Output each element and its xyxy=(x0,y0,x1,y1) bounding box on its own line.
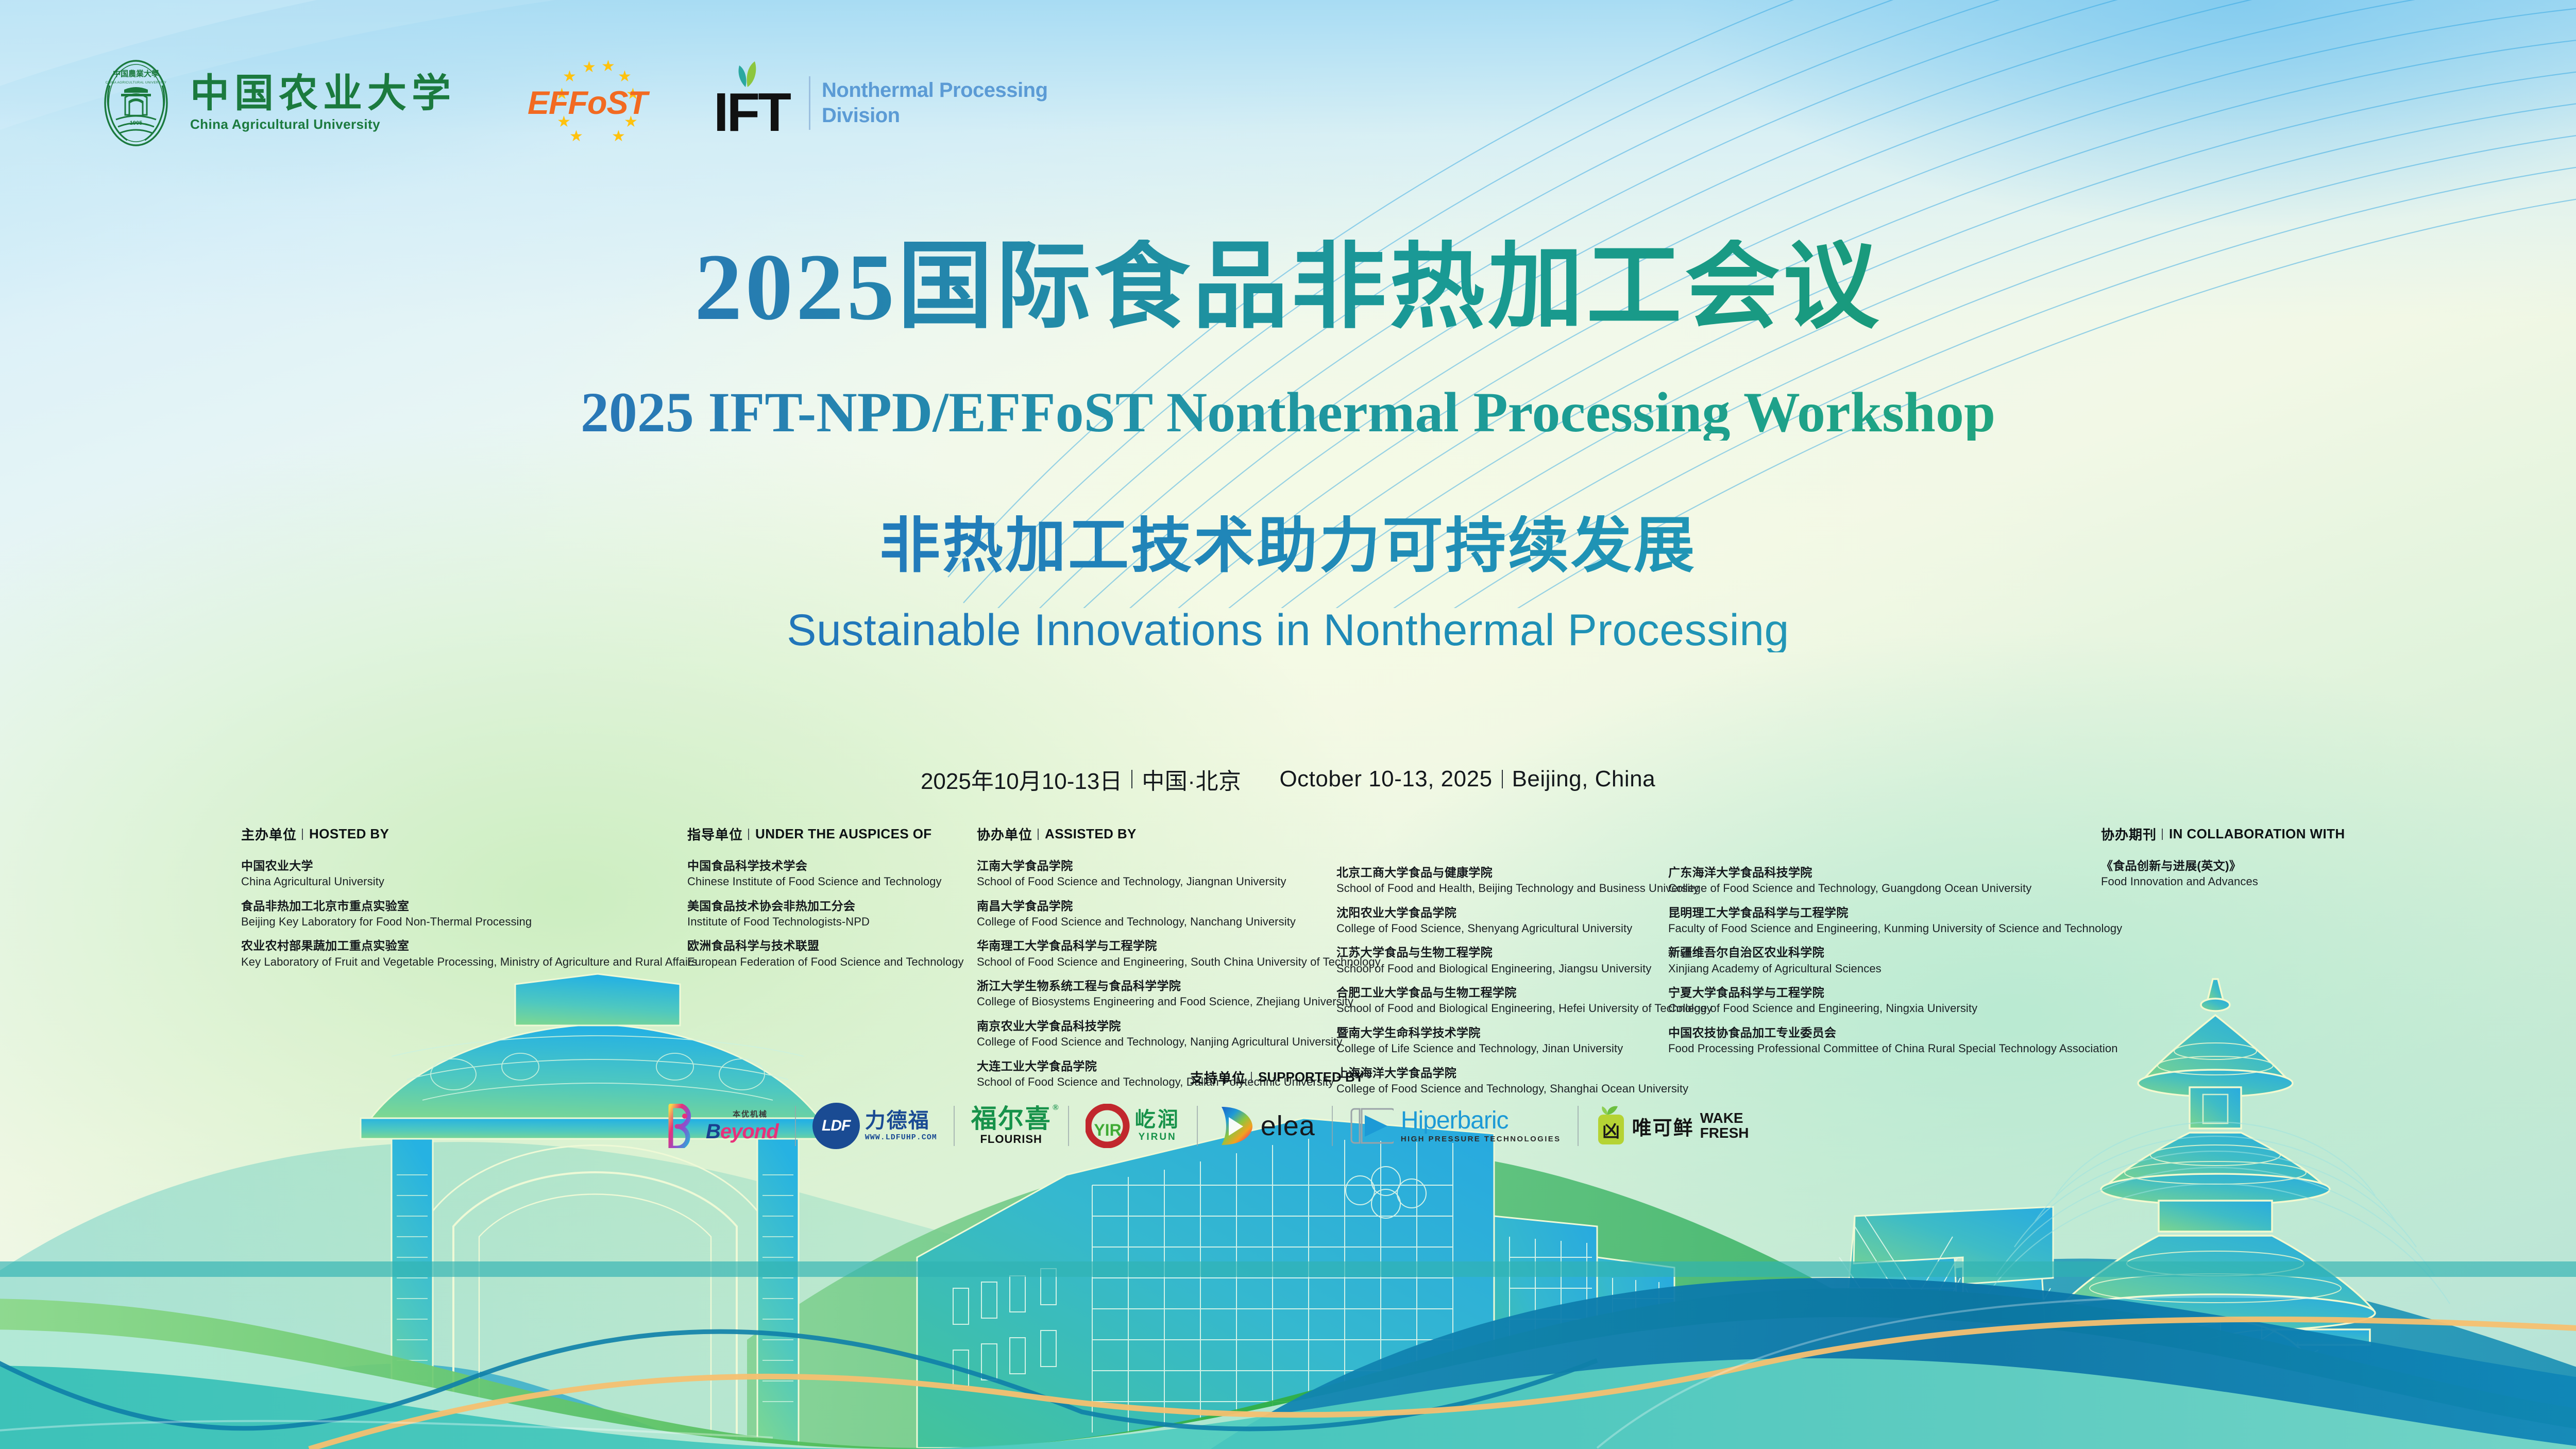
wakefresh-cn-label: 唯可鲜 xyxy=(1632,1112,1694,1140)
org-item-cn: 沈阳农业大学食品学院 xyxy=(1336,905,1713,921)
org-column-hosted-by: 主办单位 HOSTED BY 中国农业大学 China Agricultural… xyxy=(241,824,697,978)
org-item: 美国食品技术协会非热加工分会 Institute of Food Technol… xyxy=(687,898,964,930)
org-item: 食品非热加工北京市重点实验室 Beijing Key Laboratory fo… xyxy=(241,898,697,930)
header-logo-row: 中国農業大學 CHINA AGRICULTURAL UNIVERSITY 190… xyxy=(95,52,1048,155)
org-item-en: Food Innovation and Advances xyxy=(2101,874,2345,889)
sponsor-logo-wakefresh[interactable]: 凶 唯可鲜 WAKE FRESH xyxy=(1592,1100,1752,1152)
dateline-divider xyxy=(1502,770,1503,788)
flourish-en-label: FLOURISH xyxy=(980,1133,1042,1146)
hiperbaric-tagline: HIGH PRESSURE TECHNOLOGIES xyxy=(1401,1135,1561,1143)
sponsor-divider xyxy=(1578,1106,1579,1146)
ldf-mark-icon: LDF xyxy=(808,1098,864,1153)
org-item-en: College of Food Science and Technology, … xyxy=(977,914,1381,930)
flourish-cn-label: 福尔喜 ® xyxy=(971,1106,1052,1132)
org-item-cn: 中国食品科学技术学会 xyxy=(687,858,964,874)
page-title-en: 2025 IFT-NPD/EFFoST Nonthermal Processin… xyxy=(0,384,2576,441)
sponsor-logo-flourish[interactable]: 福尔喜 ® FLOURISH xyxy=(968,1100,1055,1152)
org-item-en: School of Food and Health, Beijing Techn… xyxy=(1336,881,1713,896)
ift-division-line2: Division xyxy=(822,104,1048,127)
org-item-cn: 广东海洋大学食品科技学院 xyxy=(1668,865,2122,881)
org-column-header: 指导单位 UNDER THE AUSPICES OF xyxy=(687,824,964,844)
cau-name-en: China Agricultural University xyxy=(190,116,456,132)
org-item-en: School of Food Science and Engineering, … xyxy=(977,954,1381,970)
hiperbaric-mark-icon xyxy=(1349,1106,1394,1146)
place-cn: 中国·北京 xyxy=(1142,763,1241,796)
beyond-b-icon xyxy=(668,1104,700,1148)
supported-header-cn: 支持单位 xyxy=(1190,1068,1246,1087)
org-column-in-collaboration-with: 协办期刊 IN COLLABORATION WITH 《食品创新与进展(英文)》… xyxy=(2101,824,2345,898)
effost-wordmark: EFFoST xyxy=(528,85,647,122)
org-item-cn: 北京工商大学食品与健康学院 xyxy=(1336,865,1713,881)
page-subtitle-cn: 非热加工技术助力可持续发展 xyxy=(0,515,2576,576)
org-item-cn: 昆明理工大学食品科学与工程学院 xyxy=(1668,905,2122,921)
org-item-cn: 南昌大学食品学院 xyxy=(977,898,1381,914)
header-divider xyxy=(1038,829,1039,840)
org-header-cn: 主办单位 xyxy=(241,824,297,844)
sponsor-logo-ldf[interactable]: LDF 力德福 WWW.LDFUHP.COM xyxy=(809,1100,940,1152)
org-item: 江南大学食品学院 School of Food Science and Tech… xyxy=(977,858,1381,889)
org-column-header: 协办期刊 IN COLLABORATION WITH xyxy=(2101,824,2345,844)
sponsor-logo-row: 本优机械 Beyond LDF 力德福 WWW.LDFUHP.COM xyxy=(665,1092,1963,1159)
org-item: 北京工商大学食品与健康学院 School of Food and Health,… xyxy=(1336,865,1713,896)
page-title-cn: 2025国际食品非热加工会议 xyxy=(0,240,2576,335)
supported-by-header: 支持单位 SUPPORTED BY xyxy=(1190,1068,1364,1087)
org-item: 中国食品科学技术学会 Chinese Institute of Food Sci… xyxy=(687,858,964,889)
org-item-en: Institute of Food Technologists-NPD xyxy=(687,914,964,930)
org-header-en: HOSTED BY xyxy=(309,826,389,842)
eu-star-icon: ★ xyxy=(601,59,615,74)
ldf-cn-label: 力德福 xyxy=(865,1110,937,1131)
sponsor-logo-elea[interactable]: elea xyxy=(1211,1100,1318,1152)
header-divider xyxy=(302,829,303,840)
flourish-cn-text: 福尔喜 xyxy=(971,1104,1052,1133)
supported-header-en: SUPPORTED BY xyxy=(1258,1069,1364,1085)
org-item-cn: 江苏大学食品与生物工程学院 xyxy=(1336,945,1713,961)
org-item: 中国农业大学 China Agricultural University xyxy=(241,858,697,889)
sponsor-logo-hiperbaric[interactable]: Hiperbaric HIGH PRESSURE TECHNOLOGIES xyxy=(1346,1100,1564,1152)
org-item: 《食品创新与进展(英文)》 Food Innovation and Advanc… xyxy=(2101,858,2345,889)
city-skyline-illustration: 中国农业大学 xyxy=(0,969,2576,1449)
ift-mark: IFT xyxy=(714,70,804,137)
org-item: 欧洲食品科学与技术联盟 European Federation of Food … xyxy=(687,938,964,969)
org-item-cn: 江南大学食品学院 xyxy=(977,858,1381,874)
org-item-cn: 华南理工大学食品科学与工程学院 xyxy=(977,938,1381,954)
org-header-cn: 指导单位 xyxy=(687,824,743,844)
date-en: October 10-13, 2025 xyxy=(1279,766,1492,792)
org-item-cn: 美国食品技术协会非热加工分会 xyxy=(687,898,964,914)
org-item-en: College of Food Science, Shenyang Agricu… xyxy=(1336,921,1713,936)
place-en: Beijing, China xyxy=(1512,766,1656,792)
org-item: 华南理工大学食品科学与工程学院 School of Food Science a… xyxy=(977,938,1381,969)
org-item-en: Beijing Key Laboratory for Food Non-Ther… xyxy=(241,914,697,930)
org-column-under-the-auspices-of: 指导单位 UNDER THE AUSPICES OF 中国食品科学技术学会 Ch… xyxy=(687,824,964,978)
org-item-en: Chinese Institute of Food Science and Te… xyxy=(687,874,964,889)
sponsor-divider xyxy=(954,1106,955,1146)
beyond-cn-label: 本优机械 xyxy=(733,1110,768,1118)
dateline: 2025年10月10-13日 中国·北京 October 10-13, 2025… xyxy=(0,763,2576,796)
wakefresh-en-line1: WAKE xyxy=(1700,1111,1749,1126)
wakefresh-mark-icon: 凶 xyxy=(1595,1105,1627,1147)
sponsor-logo-yirun[interactable]: YIR 屹润 YIRUN xyxy=(1082,1100,1183,1152)
svg-text:凶: 凶 xyxy=(1602,1122,1620,1141)
page-subtitle-en: Sustainable Innovations in Nonthermal Pr… xyxy=(0,608,2576,652)
org-column-header: 主办单位 HOSTED BY xyxy=(241,824,697,844)
org-item-en: China Agricultural University xyxy=(241,874,697,889)
svg-text:YIR: YIR xyxy=(1094,1121,1121,1139)
org-item: 沈阳农业大学食品学院 College of Food Science, Shen… xyxy=(1336,905,1713,936)
logo-china-agricultural-university: 中国農業大學 CHINA AGRICULTURAL UNIVERSITY 190… xyxy=(95,59,456,147)
org-column-header: 协办单位 ASSISTED BY xyxy=(977,824,1381,844)
org-item-cn: 《食品创新与进展(英文)》 xyxy=(2101,858,2345,874)
sponsor-divider xyxy=(1197,1106,1198,1146)
cau-name-cn: 中国农业大学 xyxy=(190,74,456,113)
sponsor-divider xyxy=(1332,1106,1333,1146)
svg-text:CHINA AGRICULTURAL UNIVERSITY: CHINA AGRICULTURAL UNIVERSITY xyxy=(106,81,167,85)
hiperbaric-wordmark: Hiperbaric xyxy=(1401,1108,1561,1133)
org-item-cn: 食品非热加工北京市重点实验室 xyxy=(241,898,697,914)
org-item-cn: 新疆维吾尔自治区农业科学院 xyxy=(1668,945,2122,961)
ldf-mark-label: LDF xyxy=(822,1117,850,1135)
org-header-en: IN COLLABORATION WITH xyxy=(2169,826,2345,842)
eu-star-icon: ★ xyxy=(612,129,625,144)
registered-trademark-icon: ® xyxy=(1053,1104,1060,1112)
background-waves-lower xyxy=(0,969,2576,1449)
org-item-cn: 中国农业大学 xyxy=(241,858,697,874)
wakefresh-en-line2: FRESH xyxy=(1700,1126,1749,1141)
org-item-cn: 农业农村部果蔬加工重点实验室 xyxy=(241,938,697,954)
org-header-cn: 协办单位 xyxy=(977,824,1032,844)
header-divider xyxy=(748,829,749,840)
eu-star-icon: ★ xyxy=(563,69,577,85)
org-header-en: UNDER THE AUSPICES OF xyxy=(755,826,932,842)
sponsor-divider xyxy=(795,1106,796,1146)
ift-divider xyxy=(809,76,810,130)
sponsor-logo-beyond[interactable]: 本优机械 Beyond xyxy=(665,1100,782,1152)
header-divider xyxy=(1251,1072,1252,1083)
org-item-en: European Federation of Food Science and … xyxy=(687,954,964,970)
header-divider xyxy=(2162,829,2163,840)
org-item-en: School of Food Science and Technology, J… xyxy=(977,874,1381,889)
org-item: 南昌大学食品学院 College of Food Science and Tec… xyxy=(977,898,1381,930)
org-item-en: College of Food Science and Technology, … xyxy=(1668,881,2122,896)
elea-wordmark: elea xyxy=(1261,1110,1315,1142)
org-item: 农业农村部果蔬加工重点实验室 Key Laboratory of Fruit a… xyxy=(241,938,697,969)
eu-star-icon: ★ xyxy=(582,60,596,75)
beyond-wordmark: Beyond xyxy=(706,1121,778,1142)
org-item: 广东海洋大学食品科技学院 College of Food Science and… xyxy=(1668,865,2122,896)
ift-wordmark: IFT xyxy=(714,85,789,140)
dateline-divider xyxy=(1131,770,1132,788)
org-header-en: ASSISTED BY xyxy=(1045,826,1137,842)
date-cn: 2025年10月10-13日 xyxy=(921,763,1122,796)
org-header-cn: 协办期刊 xyxy=(2101,824,2157,844)
poster-root: 中国農業大學 CHINA AGRICULTURAL UNIVERSITY 190… xyxy=(0,0,2576,1449)
org-item: 昆明理工大学食品科学与工程学院 Faculty of Food Science … xyxy=(1668,905,2122,936)
eu-star-icon: ★ xyxy=(618,69,632,85)
yirun-mark-icon: YIR xyxy=(1086,1104,1130,1148)
ift-division-line1: Nonthermal Processing xyxy=(822,79,1048,102)
yirun-cn-label: 屹润 xyxy=(1135,1109,1180,1130)
yirun-en-label: YIRUN xyxy=(1139,1132,1177,1143)
org-item-en: Faculty of Food Science and Engineering,… xyxy=(1668,921,2122,936)
logo-ift-npd: IFT Nonthermal Processing Division xyxy=(714,70,1048,137)
org-item-cn: 欧洲食品科学与技术联盟 xyxy=(687,938,964,954)
cau-seal-icon: 中国農業大學 CHINA AGRICULTURAL UNIVERSITY 190… xyxy=(95,59,177,147)
sponsor-divider xyxy=(1068,1106,1069,1146)
eu-star-icon: ★ xyxy=(569,129,583,144)
svg-text:中国農業大學: 中国農業大學 xyxy=(113,69,159,78)
org-item-en: Key Laboratory of Fruit and Vegetable Pr… xyxy=(241,954,697,970)
elea-mark-icon xyxy=(1214,1104,1255,1148)
logo-effost: ★ ★ ★ ★ ★ ★ ★ ★ ★ ★ EFFoST xyxy=(513,57,662,149)
ldf-url-label: WWW.LDFUHP.COM xyxy=(865,1133,937,1142)
